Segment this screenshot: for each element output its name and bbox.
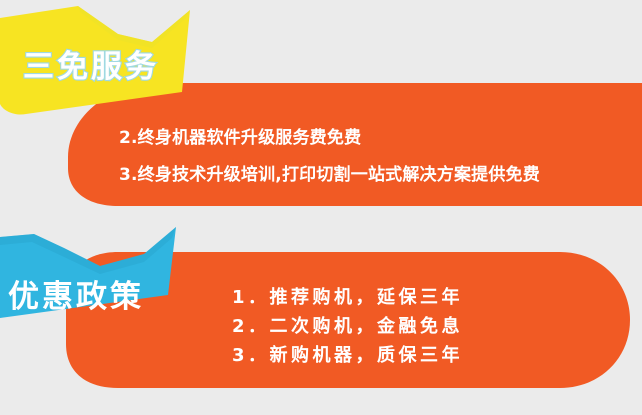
service-line-item: 3.终身技术升级培训,打印切割一站式解决方案提供免费 bbox=[119, 157, 540, 194]
policy-line-item: 2．二次购机，金融免息 bbox=[232, 312, 463, 341]
policy-banner-title: 优惠政策 bbox=[8, 271, 144, 316]
policy-panel-lines: 1．推荐购机，延保三年 2．二次购机，金融免息 3．新购机器，质保三年 bbox=[232, 283, 463, 370]
service-banner-title: 三免服务 bbox=[23, 41, 159, 86]
policy-line-item: 1．推荐购机，延保三年 bbox=[232, 283, 463, 312]
policy-line-item: 3．新购机器，质保三年 bbox=[232, 341, 463, 370]
service-panel-lines: 2.终身机器软件升级服务费免费 3.终身技术升级培训,打印切割一站式解决方案提供… bbox=[119, 120, 540, 194]
service-line-item: 2.终身机器软件升级服务费免费 bbox=[119, 120, 540, 157]
promo-poster: 三免服务 2.终身机器软件升级服务费免费 3.终身技术升级培训,打印切割一站式解… bbox=[0, 0, 642, 415]
